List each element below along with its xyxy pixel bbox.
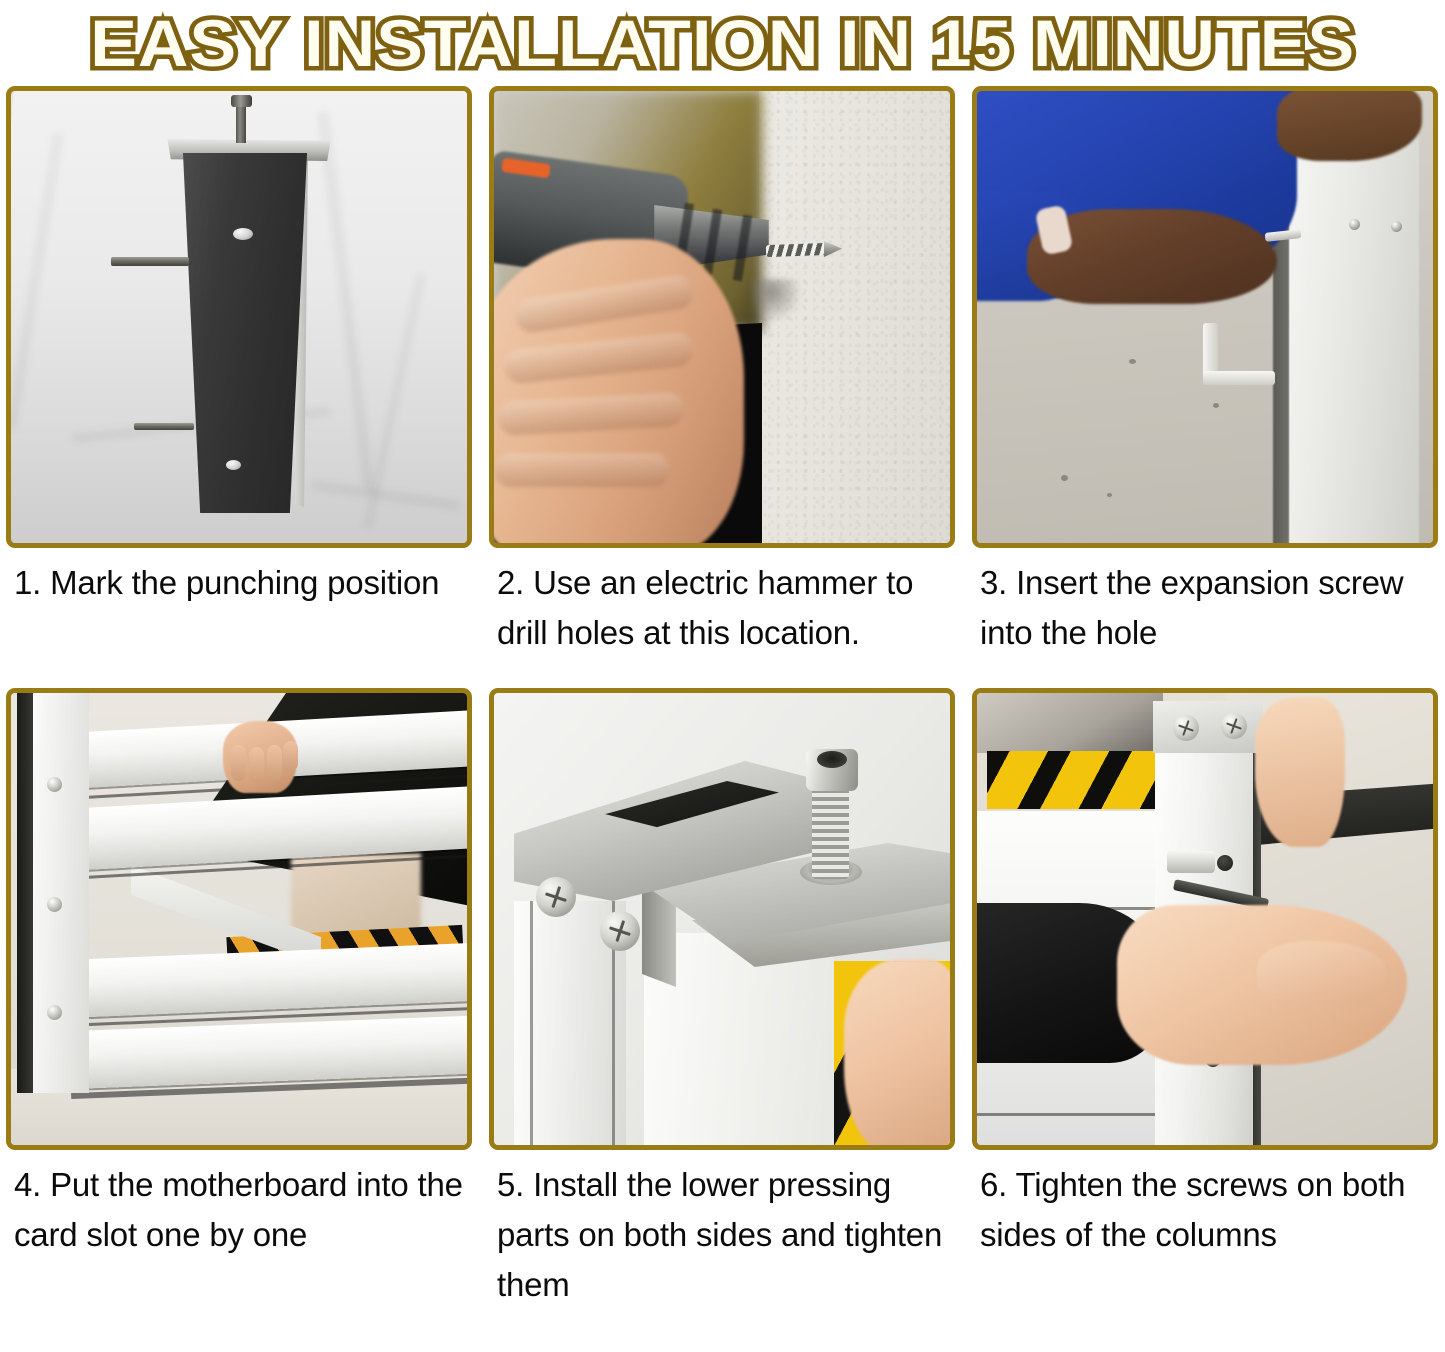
step-card-2: 2. Use an electric hammer to drill holes… — [483, 86, 961, 688]
step-card-5: 5. Install the lower pressing parts on b… — [483, 688, 961, 1310]
installer-second-hand — [1255, 697, 1345, 847]
marking-rod-upper — [111, 257, 189, 266]
post-screw-3 — [47, 1005, 62, 1020]
column-hole-lower — [226, 460, 241, 470]
step-4-photo — [11, 693, 467, 1145]
hazard-tape-marking — [987, 751, 1159, 809]
step-1-caption: 1. Mark the punching position — [6, 548, 478, 688]
step-2-photo-frame — [489, 86, 955, 548]
step-3-photo-frame — [972, 86, 1438, 548]
cap-screw-2 — [1221, 713, 1247, 739]
step-4-photo-frame — [6, 688, 472, 1150]
step-2-caption: 2. Use an electric hammer to drill holes… — [489, 548, 961, 688]
side-screw-2 — [1391, 221, 1402, 232]
step-6-photo-frame — [972, 688, 1438, 1150]
hex-wrench-short-arm — [1203, 371, 1275, 385]
step-2-photo — [494, 91, 950, 543]
marking-rod-lower — [134, 423, 194, 430]
top-bolt-head — [231, 95, 252, 107]
step-6-photo — [977, 693, 1433, 1145]
step-card-3: 3. Insert the expansion screw into the h… — [966, 86, 1444, 688]
side-screw-1 — [1349, 219, 1360, 230]
step-3-photo — [977, 91, 1433, 543]
aluminum-column — [1289, 113, 1419, 543]
phillips-screw-2 — [600, 911, 640, 951]
cap-screw-1 — [1173, 715, 1199, 741]
side-bolt-upper — [1167, 851, 1215, 873]
header-banner: EASY INSTALLATION IN 15 MINUTES — [0, 0, 1445, 86]
post-screw-2 — [47, 897, 62, 912]
step-card-4: 4. Put the motherboard into the card slo… — [0, 688, 478, 1310]
step-5-photo — [494, 693, 950, 1145]
mounting-column — [179, 153, 311, 513]
page-title: EASY INSTALLATION IN 15 MINUTES — [90, 10, 1355, 76]
phillips-screw-1 — [536, 877, 576, 917]
step-card-6: 6. Tighten the screws on both sides of t… — [966, 688, 1444, 1310]
clamp-bolt-socket — [817, 751, 847, 768]
steps-grid: 1. Mark the punching position — [0, 86, 1445, 1310]
step-1-photo — [11, 91, 467, 543]
drill-bit — [766, 243, 828, 257]
step-5-photo-frame — [489, 688, 955, 1150]
step-6-caption: 6. Tighten the screws on both sides of t… — [972, 1150, 1444, 1280]
step-1-photo-frame — [6, 86, 472, 548]
step-5-caption: 5. Install the lower pressing parts on b… — [489, 1150, 961, 1310]
step-card-1: 1. Mark the punching position — [0, 86, 478, 688]
installer-fingers — [844, 959, 950, 1145]
top-bolt — [236, 101, 246, 143]
guide-post — [33, 693, 89, 1093]
step-4-caption: 4. Put the motherboard into the card slo… — [6, 1150, 478, 1280]
post-screw-1 — [47, 777, 62, 792]
column-hole-upper — [233, 228, 253, 240]
step-3-caption: 3. Insert the expansion screw into the h… — [972, 548, 1444, 688]
